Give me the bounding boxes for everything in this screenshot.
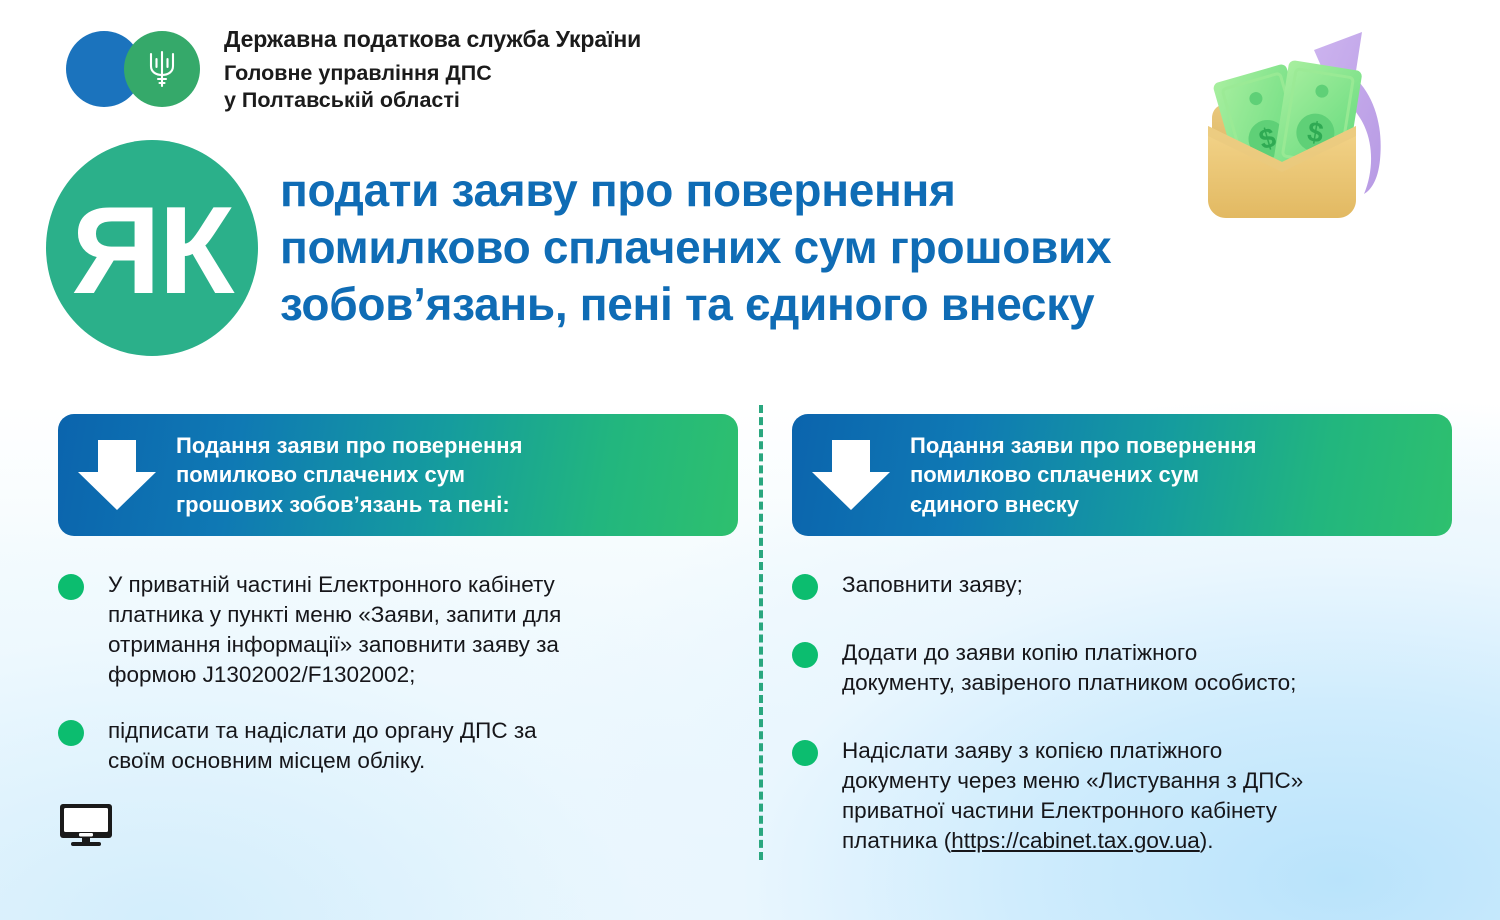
banner-right-line-1: Подання заяви про повернення [910, 431, 1436, 460]
banner-single-contribution: Подання заяви про повернення помилково с… [792, 414, 1452, 536]
page-title-line-3: зобов’язань, пені та єдиного внеску [280, 276, 1440, 333]
banner-monetary-obligations-text: Подання заяви про повернення помилково с… [176, 431, 738, 519]
bullet-list-left: У приватній частині Електронного кабінет… [58, 570, 738, 776]
right-b3-line-2: документу через меню «Листування з ДПС» [842, 766, 1303, 796]
hero-badge: ЯК [46, 140, 258, 356]
list-item-text: У приватній частині Електронного кабінет… [108, 570, 561, 690]
right-b3-line-3: приватної частини Електронного кабінету [842, 796, 1303, 826]
green-dot-icon [792, 740, 818, 766]
column-divider [759, 405, 763, 860]
banner-left-line-1: Подання заяви про повернення [176, 431, 722, 460]
list-item: У приватній частині Електронного кабінет… [58, 570, 738, 690]
wallet-with-money-return-arrow-icon: $ $ [1182, 22, 1432, 237]
left-b1-line-1: У приватній частині Електронного кабінет… [108, 570, 561, 600]
list-item: Заповнити заяву; [792, 570, 1452, 600]
green-dot-icon [58, 574, 84, 600]
cabinet-url-link[interactable]: https://cabinet.tax.gov.ua [951, 828, 1200, 853]
green-dot-icon [58, 720, 84, 746]
banner-right-line-3: єдиного внеску [910, 490, 1436, 519]
desktop-monitor-icon [58, 802, 114, 848]
banner-right-line-2: помилково сплачених сум [910, 460, 1436, 489]
right-b2-line-1: Додати до заяви копію платіжного [842, 638, 1296, 668]
green-dot-icon [792, 642, 818, 668]
banner-left-line-2: помилково сплачених сум [176, 460, 722, 489]
down-arrow-icon [58, 438, 176, 512]
column-single-contribution: Подання заяви про повернення помилково с… [792, 414, 1452, 894]
organization-logo-block: Державна податкова служба України Головн… [66, 26, 641, 115]
right-b1-line-1: Заповнити заяву; [842, 570, 1023, 600]
org-line-2: Головне управління ДПС [224, 60, 641, 88]
logo-marks [66, 31, 194, 109]
column-monetary-obligations: Подання заяви про повернення помилково с… [58, 414, 738, 802]
list-item-text: Надіслати заяву з копією платіжного доку… [842, 736, 1303, 856]
left-b1-line-2: платника у пункті меню «Заяви, запити дл… [108, 600, 561, 630]
left-b1-line-4: формою J1302002/F1302002; [108, 660, 561, 690]
right-b2-line-2: документу, завіреного платником особисто… [842, 668, 1296, 698]
list-item-text: Додати до заяви копію платіжного докумен… [842, 638, 1296, 698]
bullet-list-right: Заповнити заяву; Додати до заяви копію п… [792, 570, 1452, 856]
banner-single-contribution-text: Подання заяви про повернення помилково с… [910, 431, 1452, 519]
url-prefix: платника ( [842, 828, 951, 853]
ukraine-trident-icon [124, 31, 200, 107]
hero-badge-label: ЯК [72, 189, 233, 313]
org-line-1: Державна податкова служба України [224, 26, 641, 53]
list-item-text: Заповнити заяву; [842, 570, 1023, 600]
left-b2-line-1: підписати та надіслати до органу ДПС за [108, 716, 537, 746]
banner-monetary-obligations: Подання заяви про повернення помилково с… [58, 414, 738, 536]
right-b3-line-1: Надіслати заяву з копією платіжного [842, 736, 1303, 766]
org-line-3: у Полтавській області [224, 87, 641, 115]
list-item-text: підписати та надіслати до органу ДПС за … [108, 716, 537, 776]
list-item: підписати та надіслати до органу ДПС за … [58, 716, 738, 776]
right-b3-line-4: платника (https://cabinet.tax.gov.ua). [842, 826, 1303, 856]
infographic-poster: Державна податкова служба України Головн… [0, 0, 1500, 920]
list-item: Додати до заяви копію платіжного докумен… [792, 638, 1452, 698]
down-arrow-icon [792, 438, 910, 512]
left-b2-line-2: своїм основним місцем обліку. [108, 746, 537, 776]
green-dot-icon [792, 574, 818, 600]
list-item: Надіслати заяву з копією платіжного доку… [792, 736, 1452, 856]
left-b1-line-3: отримання інформації» заповнити заяву за [108, 630, 561, 660]
organization-name: Державна податкова служба України Головн… [224, 26, 641, 115]
banner-left-line-3: грошових зобов’язань та пені: [176, 490, 722, 519]
url-suffix: ). [1200, 828, 1214, 853]
